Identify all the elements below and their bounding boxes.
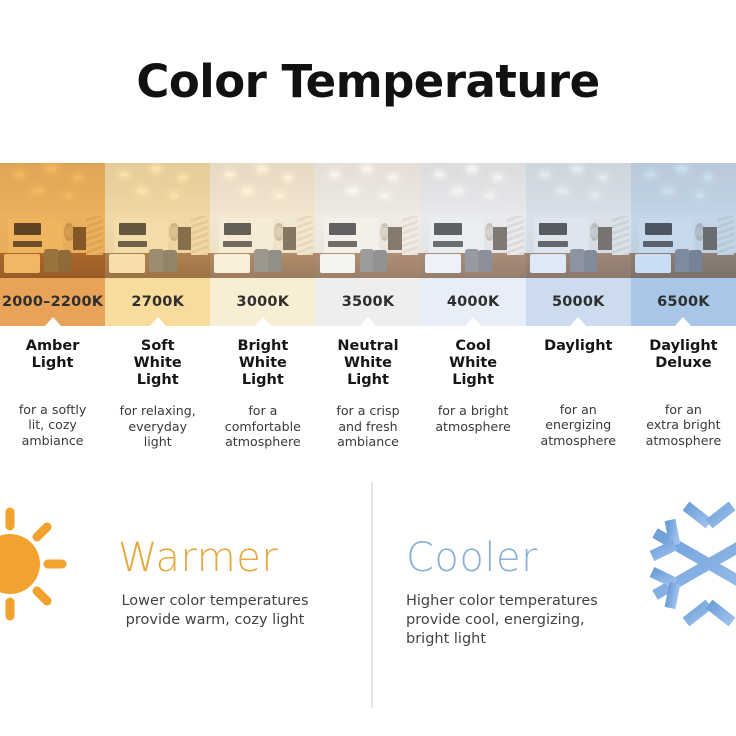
light-type-name: BrightWhiteLight xyxy=(216,338,309,389)
kelvin-label: 2000–2200K xyxy=(2,294,103,310)
snowflake-icon xyxy=(644,494,736,634)
warmer-description: Lower color temperatures provide warm, c… xyxy=(100,592,330,630)
light-type-cell: BrightWhiteLightfor acomfortableatmosphe… xyxy=(210,338,315,449)
warmer-heading: Warmer xyxy=(118,538,278,578)
light-type-name-line: Bright xyxy=(216,338,309,355)
light-type-description: for relaxing,everydaylight xyxy=(111,403,204,449)
swatch-notch xyxy=(570,317,586,326)
room-photo-cell xyxy=(105,163,210,278)
kelvin-swatch: 3500K xyxy=(315,278,420,326)
light-type-cell: CoolWhiteLightfor a brightatmosphere xyxy=(421,338,526,449)
room-photo-cell xyxy=(0,163,105,278)
page-title: Color Temperature xyxy=(136,59,599,104)
light-type-description-line: everyday xyxy=(111,419,204,434)
light-type-description: for a brightatmosphere xyxy=(427,403,520,434)
swatch-notch xyxy=(360,317,376,326)
warm-cool-comparison: Warmer Lower color temperatures provide … xyxy=(0,480,736,720)
light-type-description-line: for a crisp xyxy=(321,403,414,418)
light-type-name-line: White xyxy=(321,355,414,372)
light-type-name-line: Light xyxy=(216,372,309,389)
swatch-notch xyxy=(255,317,271,326)
light-type-description: for anextra brightatmosphere xyxy=(637,402,730,448)
light-type-description: for acomfortableatmosphere xyxy=(216,403,309,449)
light-type-name-line: Light xyxy=(111,372,204,389)
light-type-description-line: extra bright xyxy=(637,417,730,432)
kelvin-label: 2700K xyxy=(131,294,184,310)
cooler-description: Higher color temperatures provide cool, … xyxy=(406,592,626,649)
room-photo-strip xyxy=(0,163,736,278)
cooler-description-line: Higher color temperatures xyxy=(406,592,626,611)
light-type-description-line: for relaxing, xyxy=(111,403,204,418)
light-type-cell: AmberLightfor a softlylit, cozyambiance xyxy=(0,338,105,449)
light-type-description-line: atmosphere xyxy=(216,434,309,449)
kelvin-swatch: 2700K xyxy=(105,278,210,326)
kelvin-label: 5000K xyxy=(552,294,605,310)
room-photo-cell xyxy=(631,163,736,278)
light-type-description-line: for an xyxy=(637,402,730,417)
warmer-panel: Warmer Lower color temperatures provide … xyxy=(0,480,368,720)
kelvin-label: 4000K xyxy=(447,294,500,310)
light-type-name-line: Light xyxy=(427,372,520,389)
light-type-description-line: comfortable xyxy=(216,419,309,434)
kelvin-swatch: 4000K xyxy=(421,278,526,326)
light-type-cell: Daylightfor anenergizingatmosphere xyxy=(526,338,631,449)
light-type-name-line: Deluxe xyxy=(637,355,730,372)
light-type-cell: DaylightDeluxefor anextra brightatmosphe… xyxy=(631,338,736,449)
light-type-name: AmberLight xyxy=(6,338,99,388)
kelvin-swatch: 3000K xyxy=(210,278,315,326)
light-type-description-line: light xyxy=(111,434,204,449)
cooler-panel: Cooler Higher color temperatures provide… xyxy=(368,480,736,720)
light-type-name: CoolWhiteLight xyxy=(427,338,520,389)
light-type-name: Daylight xyxy=(532,338,625,388)
light-type-name-line: White xyxy=(427,355,520,372)
light-type-name-line: Light xyxy=(6,355,99,372)
light-type-description-line: lit, cozy xyxy=(6,417,99,432)
kelvin-swatch: 2000–2200K xyxy=(0,278,105,326)
light-type-description-line: atmosphere xyxy=(637,433,730,448)
light-name-row: AmberLightfor a softlylit, cozyambianceS… xyxy=(0,326,736,449)
light-type-name-line: Light xyxy=(321,372,414,389)
warmer-description-line: provide warm, cozy light xyxy=(100,611,330,630)
kelvin-label: 3000K xyxy=(237,294,290,310)
light-type-name-line: White xyxy=(111,355,204,372)
light-type-name-line: Soft xyxy=(111,338,204,355)
swatch-notch xyxy=(675,317,691,326)
cooler-heading: Cooler xyxy=(406,538,538,578)
kelvin-label: 6500K xyxy=(657,294,710,310)
light-type-name-line: Cool xyxy=(427,338,520,355)
light-type-description-line: for a bright xyxy=(427,403,520,418)
light-type-cell: SoftWhiteLightfor relaxing,everydaylight xyxy=(105,338,210,449)
title-area: Color Temperature xyxy=(0,0,736,163)
light-type-description-line: ambiance xyxy=(321,434,414,449)
light-type-description-line: and fresh xyxy=(321,419,414,434)
light-type-name-line: Neutral xyxy=(321,338,414,355)
kelvin-swatch-band: 2000–2200K2700K3000K3500K4000K5000K6500K xyxy=(0,278,736,326)
cooler-description-line: bright light xyxy=(406,630,626,649)
kelvin-swatch: 6500K xyxy=(631,278,736,326)
light-type-name-line: Daylight xyxy=(532,338,625,355)
swatch-notch xyxy=(45,317,61,326)
kelvin-swatch: 5000K xyxy=(526,278,631,326)
light-type-name-line: Daylight xyxy=(637,338,730,355)
light-type-description: for anenergizingatmosphere xyxy=(532,402,625,448)
light-type-name: SoftWhiteLight xyxy=(111,338,204,389)
light-type-name: DaylightDeluxe xyxy=(637,338,730,388)
room-photo-cell xyxy=(421,163,526,278)
cooler-description-line: provide cool, energizing, xyxy=(406,611,626,630)
light-type-description-line: for a xyxy=(216,403,309,418)
light-type-description-line: for a softly xyxy=(6,402,99,417)
swatch-notch xyxy=(150,317,166,326)
light-type-description-line: atmosphere xyxy=(427,419,520,434)
light-type-cell: NeutralWhiteLightfor a crispand freshamb… xyxy=(315,338,420,449)
light-type-description-line: atmosphere xyxy=(532,433,625,448)
room-photo-cell xyxy=(315,163,420,278)
room-photo-cell xyxy=(210,163,315,278)
light-type-name-line: Amber xyxy=(6,338,99,355)
light-type-description: for a softlylit, cozyambiance xyxy=(6,402,99,448)
sun-icon xyxy=(0,502,72,626)
light-type-description-line: for an xyxy=(532,402,625,417)
light-type-description: for a crispand freshambiance xyxy=(321,403,414,449)
light-type-description-line: energizing xyxy=(532,417,625,432)
warmer-description-line: Lower color temperatures xyxy=(100,592,330,611)
room-photo-cell xyxy=(526,163,631,278)
light-type-description-line: ambiance xyxy=(6,433,99,448)
light-type-name-line: White xyxy=(216,355,309,372)
kelvin-label: 3500K xyxy=(342,294,395,310)
light-type-name: NeutralWhiteLight xyxy=(321,338,414,389)
swatch-notch xyxy=(465,317,481,326)
